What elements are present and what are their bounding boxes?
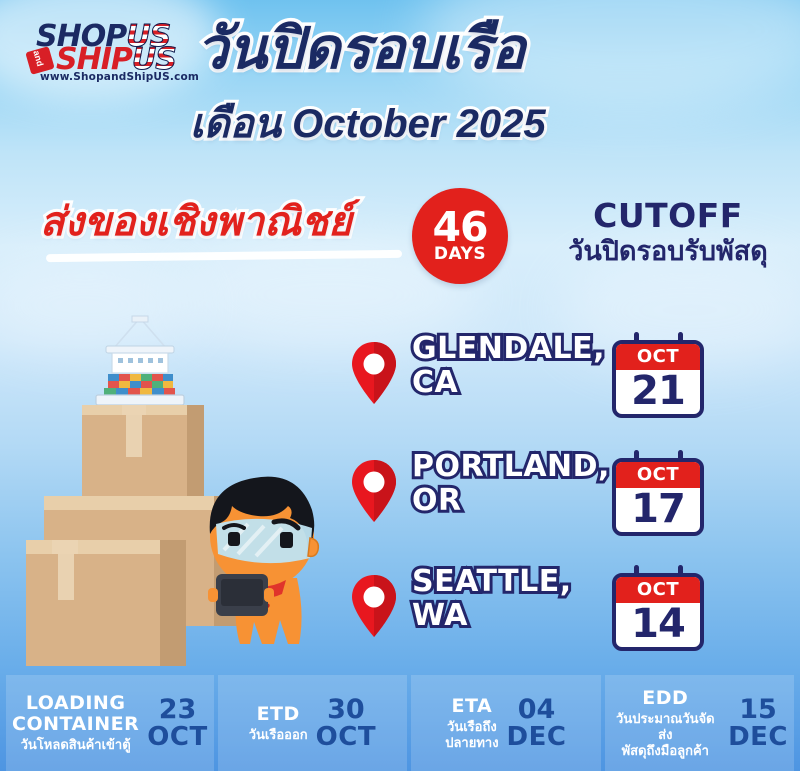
- state-label: WA: [412, 598, 468, 633]
- mascot-character-icon: US: [186, 450, 336, 665]
- schedule-day: 15: [728, 696, 788, 723]
- state-label: OR: [412, 483, 462, 518]
- schedule-date: 23 OCT: [147, 696, 207, 751]
- schedule-day: 23: [147, 696, 207, 723]
- schedule-month: OCT: [316, 723, 376, 751]
- city-label: PORTLAND,: [412, 449, 610, 484]
- schedule-day: 04: [507, 696, 567, 723]
- calendar-icon: OCT 14: [612, 565, 708, 653]
- schedule-month: OCT: [147, 723, 207, 751]
- schedule-label-th: วันประมาณวันจัดส่งพัสดุถึงมือลูกค้า: [611, 711, 721, 759]
- poster-canvas: SHOPUS and SHIPUS www.ShopandShipUS.com …: [0, 0, 800, 771]
- schedule-day: 30: [316, 696, 376, 723]
- schedule-date: 30 OCT: [316, 696, 376, 751]
- days-badge-number: 46: [432, 209, 487, 245]
- map-pin-icon: [350, 458, 398, 524]
- package-box-front: [26, 540, 186, 666]
- schedule-cell-loading-container: LOADING CONTAINER วันโหลดสินค้าเข้าตู้ 2…: [6, 675, 214, 771]
- schedule-cell-etd: ETD วันเรือออก 30 OCT: [218, 675, 407, 771]
- schedule-label-th: วันเรือออก: [249, 727, 308, 743]
- map-pin-icon: [350, 340, 398, 406]
- cutoff-label-en: CUTOFF: [548, 198, 788, 234]
- city-label: GLENDALE,: [412, 331, 605, 366]
- days-badge-unit: DAYS: [434, 245, 486, 264]
- schedule-month: DEC: [507, 723, 567, 751]
- location-name-glendale: GLENDALE, CA: [412, 332, 622, 400]
- schedule-cell-eta: ETA วันเรือถึงปลายทาง 04 DEC: [411, 675, 600, 771]
- calendar-icon: OCT 17: [612, 450, 708, 538]
- schedule-label-th: วันเรือถึงปลายทาง: [445, 719, 498, 751]
- state-label: CA: [412, 365, 458, 400]
- logo-website-url: www.ShopandShipUS.com: [40, 71, 199, 83]
- location-row-portland: PORTLAND, OR OCT 17: [350, 448, 790, 548]
- logo-and-text: and: [31, 49, 45, 67]
- schedule-bar: LOADING CONTAINER วันโหลดสินค้าเข้าตู้ 2…: [0, 675, 800, 771]
- location-row-seattle: SEATTLE, WA OCT 14: [350, 563, 790, 663]
- calendar-day: 17: [616, 486, 700, 532]
- map-pin-icon: [350, 573, 398, 639]
- schedule-cell-edd: EDD วันประมาณวันจัดส่งพัสดุถึงมือลูกค้า …: [605, 675, 794, 771]
- cutoff-heading: CUTOFF วันปิดรอบรับพัสดุ: [548, 198, 788, 267]
- schedule-label-en: EDD: [611, 688, 721, 709]
- city-label: SEATTLE,: [412, 564, 572, 599]
- location-row-glendale: GLENDALE, CA OCT 21: [350, 330, 790, 430]
- calendar-month: OCT: [637, 581, 679, 599]
- location-name-portland: PORTLAND, OR: [412, 450, 622, 518]
- cutoff-label-th: วันปิดรอบรับพัสดุ: [548, 235, 788, 267]
- location-name-seattle: SEATTLE, WA: [412, 565, 622, 633]
- schedule-label-th: วันโหลดสินค้าเข้าตู้: [12, 737, 139, 753]
- page-subtitle: เดือน October 2025: [190, 100, 546, 148]
- calendar-day: 14: [616, 601, 700, 647]
- days-badge: 46 DAYS: [412, 188, 508, 284]
- calendar-month: OCT: [637, 466, 679, 484]
- schedule-label-en: ETA: [445, 696, 498, 717]
- schedule-date: 04 DEC: [507, 696, 567, 751]
- calendar-day: 21: [616, 368, 700, 414]
- page-title: วันปิดรอบเรือ: [196, 18, 526, 80]
- schedule-date: 15 DEC: [728, 696, 788, 751]
- schedule-label-en: LOADING CONTAINER: [12, 693, 139, 735]
- commercial-shipping-label: ส่งของเชิงพาณิชย์: [40, 196, 352, 248]
- schedule-label-en: ETD: [249, 704, 308, 725]
- calendar-month: OCT: [637, 348, 679, 366]
- container-ship-icon: [80, 308, 200, 418]
- shopandshipus-logo[interactable]: SHOPUS and SHIPUS www.ShopandShipUS.com: [28, 22, 188, 84]
- calendar-icon: OCT 21: [612, 332, 708, 420]
- packages-illustration: US: [18, 300, 348, 670]
- schedule-month: DEC: [728, 723, 788, 751]
